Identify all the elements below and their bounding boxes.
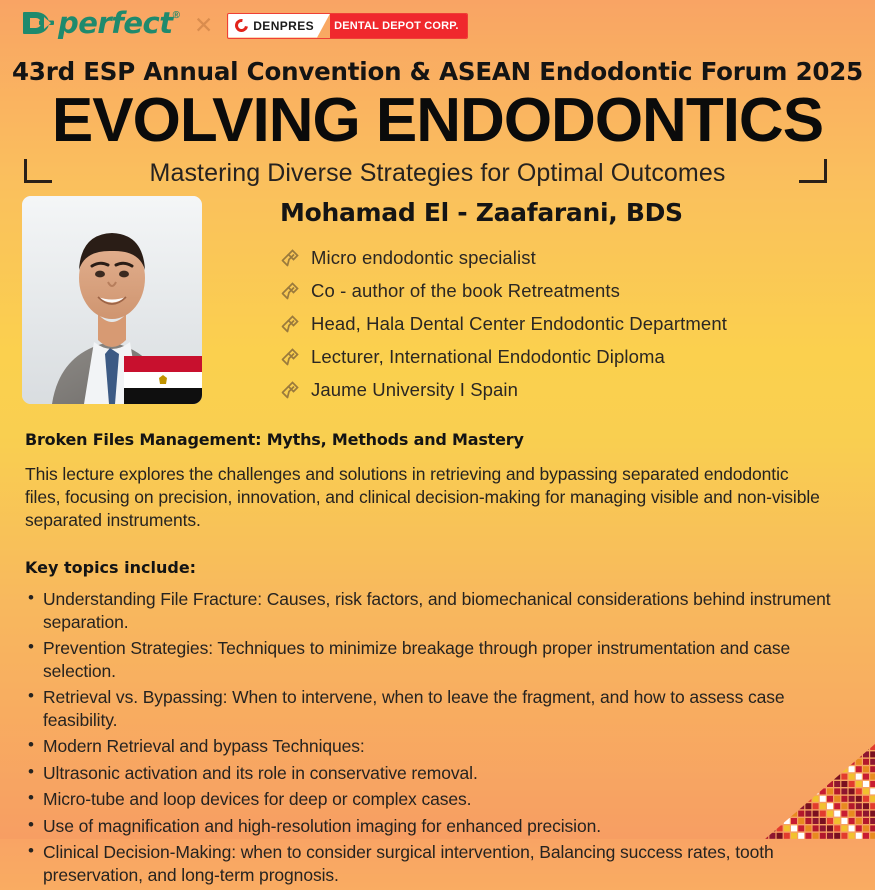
dental-tool-icon <box>280 281 300 301</box>
denpres-logo[interactable]: DENPRES DENTAL DEPOT CORP. <box>227 13 467 39</box>
credential-item: Micro endodontic specialist <box>280 247 727 269</box>
bracket-right-decoration <box>799 159 827 183</box>
logo-separator-x-icon: ✕ <box>194 14 213 37</box>
credential-item: Co - author of the book Retreatments <box>280 280 727 302</box>
bracket-left-decoration <box>24 159 52 183</box>
dental-tool-icon <box>280 248 300 268</box>
speaker-info: Mohamad El - Zaafarani, BDS Micro endodo… <box>280 196 727 412</box>
lecture-description: This lecture explores the challenges and… <box>25 463 825 532</box>
subtitle-row: Mastering Diverse Strategies for Optimal… <box>0 156 875 190</box>
speaker-photo <box>22 196 202 404</box>
topic-item: Understanding File Fracture: Causes, ris… <box>25 588 835 633</box>
credential-text: Head, Hala Dental Center Endodontic Depa… <box>311 313 727 335</box>
registered-mark: ® <box>173 10 180 21</box>
topic-item: Modern Retrieval and bypass Techniques: <box>25 735 835 758</box>
topic-item: Use of magnification and high-resolution… <box>25 815 835 838</box>
credential-text: Lecturer, International Endodontic Diplo… <box>311 346 665 368</box>
perfect-logo[interactable]: perfect ® <box>22 8 180 43</box>
denpres-name-text: DENPRES <box>253 19 314 33</box>
event-headline: 43rd ESP Annual Convention & ASEAN Endod… <box>0 57 875 190</box>
credential-item: Jaume University I Spain <box>280 379 727 401</box>
topic-item: Retrieval vs. Bypassing: When to interve… <box>25 686 835 731</box>
credential-item: Lecturer, International Endodontic Diplo… <box>280 346 727 368</box>
topic-item: Prevention Strategies: Techniques to min… <box>25 637 835 682</box>
topic-item: Ultrasonic activation and its role in co… <box>25 762 835 785</box>
denpres-name-block: DENPRES <box>228 14 330 38</box>
topics-heading: Key topics include: <box>25 558 853 577</box>
credential-text: Co - author of the book Retreatments <box>311 280 620 302</box>
speaker-section: Mohamad El - Zaafarani, BDS Micro endodo… <box>22 196 853 412</box>
credential-text: Micro endodontic specialist <box>311 247 536 269</box>
credential-text: Jaume University I Spain <box>311 379 518 401</box>
denpres-tagline: DENTAL DEPOT CORP. <box>330 14 467 38</box>
page-title: EVOLVING ENDODONTICS <box>0 88 875 154</box>
lecture-title: Broken Files Management: Myths, Methods … <box>25 430 853 449</box>
perfect-logo-text: perfect <box>58 8 173 38</box>
topic-item: Micro-tube and loop devices for deep or … <box>25 788 835 811</box>
topics-list: Understanding File Fracture: Causes, ris… <box>25 588 853 886</box>
speaker-name: Mohamad El - Zaafarani, BDS <box>280 198 727 227</box>
credential-item: Head, Hala Dental Center Endodontic Depa… <box>280 313 727 335</box>
lecture-section: Broken Files Management: Myths, Methods … <box>25 430 853 890</box>
brand-logo-bar: perfect ® ✕ DENPRES DENTAL DEPOT CORP. <box>22 8 468 43</box>
egypt-flag-badge <box>124 356 202 404</box>
event-subtitle: Mastering Diverse Strategies for Optimal… <box>0 156 875 190</box>
topic-item: Clinical Decision-Making: when to consid… <box>25 841 835 886</box>
denpres-ring-icon <box>233 16 251 34</box>
dental-tool-icon <box>280 347 300 367</box>
dental-tool-icon <box>280 314 300 334</box>
speaker-credentials-list: Micro endodontic specialistCo - author o… <box>280 247 727 401</box>
perfect-dental-mark-icon <box>22 8 56 43</box>
dental-tool-icon <box>280 380 300 400</box>
event-kicker: 43rd ESP Annual Convention & ASEAN Endod… <box>0 57 875 86</box>
